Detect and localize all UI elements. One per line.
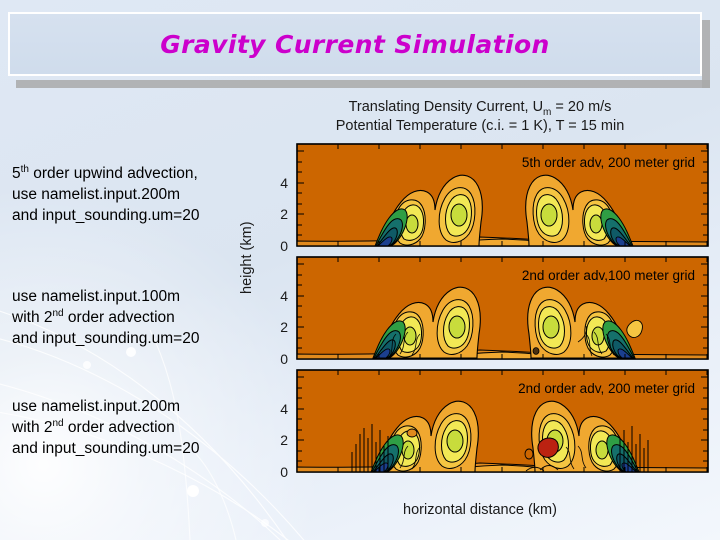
title-box-shadow-right bbox=[702, 20, 710, 88]
panel-3: 0 2 4 2nd order adv, 200 meter grid bbox=[280, 370, 708, 480]
note-block-1: 5th order upwind advection, use namelist… bbox=[12, 163, 260, 226]
page-title: Gravity Current Simulation bbox=[8, 12, 702, 76]
y-tick-2: 2 bbox=[280, 206, 288, 222]
x-tick-10: 10 bbox=[576, 479, 592, 482]
y-tick-2: 2 bbox=[280, 432, 288, 448]
panel-2: 0 2 4 2nd order adv,100 meter grid bbox=[280, 257, 708, 367]
title-box-shadow bbox=[16, 80, 710, 88]
panel-2-label: 2nd order adv,100 meter grid bbox=[522, 268, 695, 283]
note-block-3: use namelist.input.200m with 2nd order a… bbox=[12, 396, 260, 459]
figure-title-line1: Translating Density Current, Um = 20 m/s bbox=[240, 98, 720, 117]
note-line: use namelist.input.200m bbox=[12, 184, 260, 205]
figure-title: Translating Density Current, Um = 20 m/s… bbox=[240, 98, 720, 136]
figure-title-line2: Potential Temperature (c.i. = 1 K), T = … bbox=[240, 117, 720, 136]
y-tick-4: 4 bbox=[280, 175, 288, 191]
note-line: 5th order upwind advection, bbox=[12, 163, 260, 184]
note-line: with 2nd order advection bbox=[12, 307, 260, 328]
panel-1-label: 5th order adv, 200 meter grid bbox=[522, 155, 695, 170]
note-line: with 2nd order advection bbox=[12, 417, 260, 438]
panel-3-label: 2nd order adv, 200 meter grid bbox=[518, 381, 695, 396]
y-tick-0: 0 bbox=[280, 351, 288, 367]
note-line: and input_sounding.um=20 bbox=[12, 205, 260, 226]
x-tick--20: -20 bbox=[328, 479, 348, 482]
x-tick-0: 0 bbox=[498, 479, 506, 482]
contour-panels: 0 2 4 5th order adv, 200 meter grid bbox=[240, 142, 720, 482]
panel-1: 0 2 4 5th order adv, 200 meter grid bbox=[280, 144, 708, 254]
note-line: and input_sounding.um=20 bbox=[12, 438, 260, 459]
x-axis-label: horizontal distance (km) bbox=[240, 502, 720, 518]
y-tick-2: 2 bbox=[280, 319, 288, 335]
note-block-2: use namelist.input.100m with 2nd order a… bbox=[12, 286, 260, 349]
figure: Translating Density Current, Um = 20 m/s… bbox=[240, 98, 720, 538]
y-tick-4: 4 bbox=[280, 288, 288, 304]
x-tick-20: 20 bbox=[658, 479, 674, 482]
y-tick-4: 4 bbox=[280, 401, 288, 417]
y-tick-0: 0 bbox=[280, 238, 288, 254]
note-line: and input_sounding.um=20 bbox=[12, 328, 260, 349]
note-line: use namelist.input.200m bbox=[12, 396, 260, 417]
x-tick--10: -10 bbox=[410, 479, 430, 482]
y-tick-0: 0 bbox=[280, 464, 288, 480]
note-line: use namelist.input.100m bbox=[12, 286, 260, 307]
